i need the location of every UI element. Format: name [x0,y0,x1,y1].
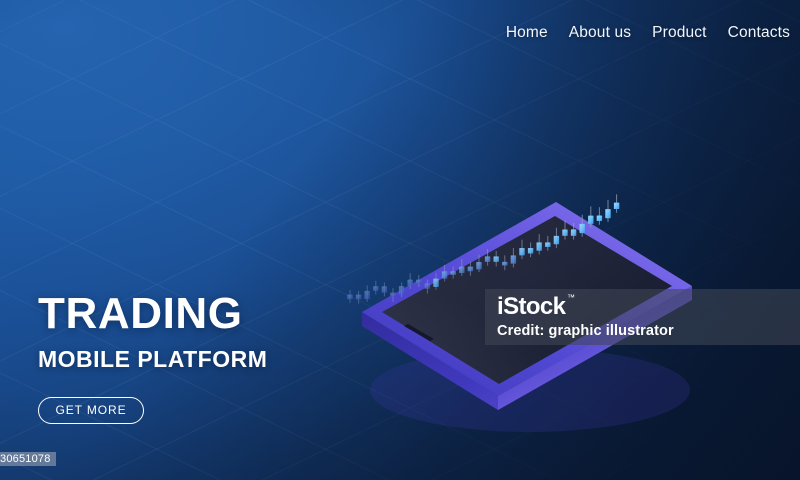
candle-body [485,256,490,262]
watermark-credit: Credit: graphic illustrator [497,323,800,339]
candle-body [545,242,550,247]
nav-item-home[interactable]: Home [506,24,548,42]
candle-body [494,256,499,262]
hero-block: TRADING MOBILE PLATFORM GET MORE [38,291,267,424]
candlestick-chart [336,140,636,310]
candle-body [580,224,585,233]
istock-watermark: iStock ™ Credit: graphic illustrator [485,289,800,345]
nav-item-contacts[interactable]: Contacts [728,24,790,42]
istock-logo: iStock ™ [497,295,565,319]
candle-body [511,255,516,263]
candle-body [502,262,507,266]
candle-body [597,216,602,222]
candle-body [459,267,464,273]
candle-body [416,280,421,284]
nav-item-product[interactable]: Product [652,24,706,42]
candle-body [442,271,447,278]
top-navigation: Home About us Product Contacts [506,24,790,42]
page-title: TRADING [38,291,267,338]
candle-body [519,248,524,255]
candle-body [425,283,430,289]
nav-item-about-us[interactable]: About us [569,24,631,42]
candle-body [528,248,533,254]
asset-id-label: 30651078 [0,452,56,466]
candle-body [399,286,404,294]
page-subtitle: MOBILE PLATFORM [38,346,267,373]
istock-logo-text: iStock [497,293,565,320]
candle-body [571,229,576,235]
candles-group [347,194,619,303]
candle-body [390,293,395,297]
candle-body [614,203,619,209]
candle-body [451,271,456,275]
candle-body [347,295,352,300]
candle-body [433,279,438,287]
get-more-button[interactable]: GET MORE [38,397,144,424]
candle-body [365,291,370,299]
candlestick-chart-svg [336,140,636,310]
landing-page-stage: Home About us Product Contacts [0,0,800,480]
candle-body [562,229,567,235]
candle-body [356,295,361,300]
candle-body [408,280,413,286]
candle-body [537,242,542,250]
candle-body [468,267,473,272]
candle-body [476,262,481,269]
candle-body [588,216,593,224]
candle-body [382,286,387,292]
candle-body [373,286,378,291]
candle-body [605,209,610,218]
candle-body [554,236,559,244]
trademark-symbol: ™ [567,294,574,302]
